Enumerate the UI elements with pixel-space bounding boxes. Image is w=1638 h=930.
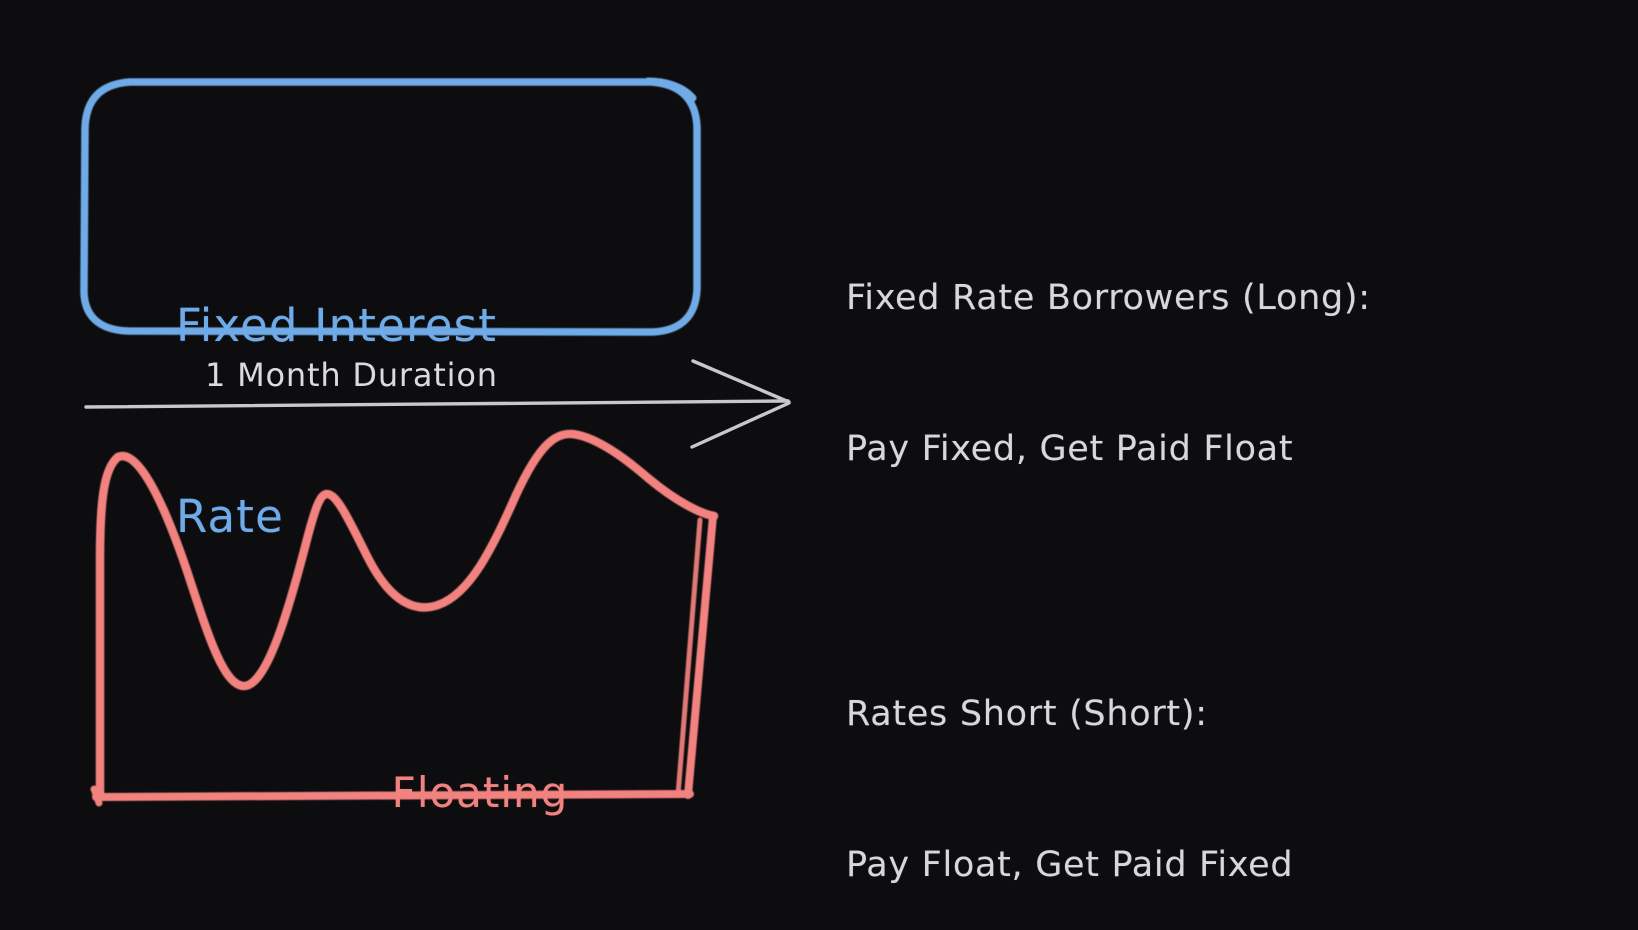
fixed-label-line-1: Fixed Interest bbox=[176, 294, 646, 358]
note-short-line-1: Rates Short (Short): bbox=[846, 689, 1293, 739]
fixed-interest-rate-label: Fixed Interest Rate bbox=[176, 166, 646, 677]
diagram-canvas: Fixed Interest Rate 1 Month Duration Flo… bbox=[0, 0, 1638, 930]
floating-interest-rate-label: Floating Interest Rate bbox=[290, 648, 670, 930]
note-fixed-rate-borrowers: Fixed Rate Borrowers (Long): Pay Fixed, … bbox=[846, 172, 1371, 575]
note-short-line-2: Pay Float, Get Paid Fixed bbox=[846, 840, 1293, 890]
fixed-label-line-2: Rate bbox=[176, 485, 646, 549]
duration-label: 1 Month Duration bbox=[205, 355, 498, 396]
note-rates-short: Rates Short (Short): Pay Float, Get Paid… bbox=[846, 588, 1293, 930]
floating-label-line-1: Floating bbox=[290, 764, 670, 822]
note-long-line-2: Pay Fixed, Get Paid Float bbox=[846, 424, 1371, 474]
note-long-line-1: Fixed Rate Borrowers (Long): bbox=[846, 273, 1371, 323]
